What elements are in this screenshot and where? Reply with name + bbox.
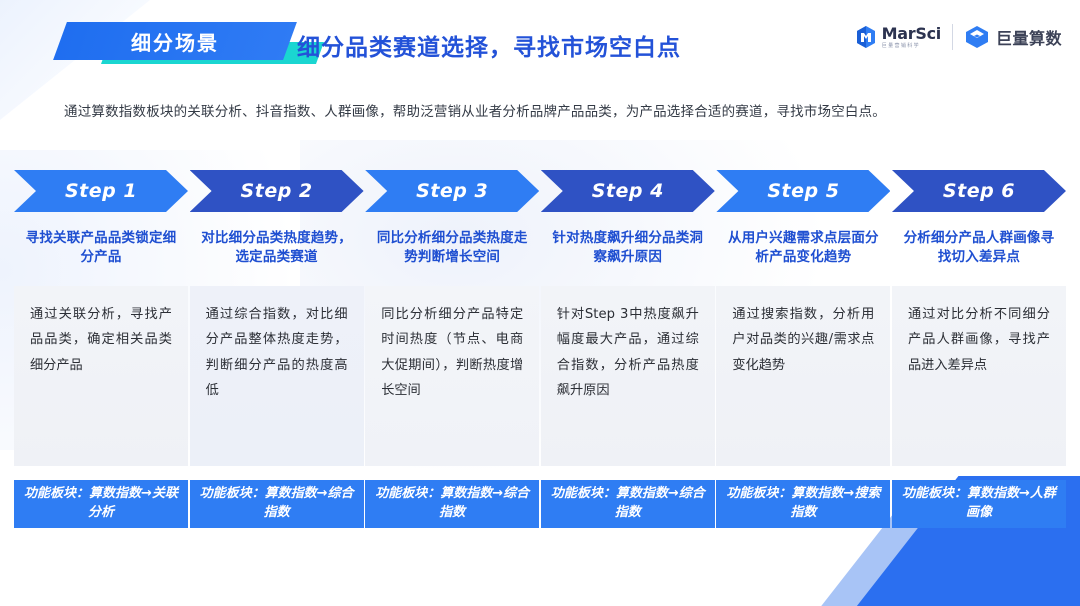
marsci-wordmark: MarSci 巨量营销科学 xyxy=(882,26,941,49)
step-title-1: 寻找关联产品品类锁定细分产品 xyxy=(14,226,188,270)
step-column-6: Step 6 分析细分产品人群画像寻找切入差异点 通过对比分析不同细分产品人群画… xyxy=(892,170,1066,550)
step-function-2[interactable]: 功能板块：算数指数→综合指数 xyxy=(190,480,364,528)
step-column-2: Step 2 对比细分品类热度趋势，选定品类赛道 通过综合指数，对比细分产品整体… xyxy=(190,170,364,550)
step-function-1[interactable]: 功能板块：算数指数→关联分析 xyxy=(14,480,188,528)
step-body-1: 通过关联分析，寻找产品品类，确定相关品类细分产品 xyxy=(14,286,188,466)
step-column-5: Step 5 从用户兴趣需求点层面分析产品变化趋势 通过搜索指数，分析用户对品类… xyxy=(716,170,890,550)
step-body-4: 针对Step 3中热度飙升幅度最大产品，通过综合指数，分析产品热度飙升原因 xyxy=(541,286,715,466)
step-title-6: 分析细分产品人群画像寻找切入差异点 xyxy=(892,226,1066,270)
step-function-5[interactable]: 功能板块：算数指数→搜索指数 xyxy=(716,480,890,528)
step-title-3: 同比分析细分品类热度走势判断增长空间 xyxy=(365,226,539,270)
step-arrow-1[interactable]: Step 1 xyxy=(14,170,188,212)
step-arrow-3[interactable]: Step 3 xyxy=(365,170,539,212)
step-column-1: Step 1 寻找关联产品品类锁定细分产品 通过关联分析，寻找产品品类，确定相关… xyxy=(14,170,188,550)
step-function-6[interactable]: 功能板块：算数指数→人群画像 xyxy=(892,480,1066,528)
slide-root: 细分场景 细分品类赛道选择，寻找市场空白点 MarSci 巨量营销科学 xyxy=(0,0,1080,606)
juliang-name: 巨量算数 xyxy=(996,25,1062,49)
marsci-mark-icon xyxy=(855,25,877,49)
page-header: 细分场景 细分品类赛道选择，寻找市场空白点 MarSci 巨量营销科学 xyxy=(0,0,1080,80)
step-title-4: 针对热度飙升细分品类洞察飙升原因 xyxy=(541,226,715,270)
step-arrow-6[interactable]: Step 6 xyxy=(892,170,1066,212)
step-title-5: 从用户兴趣需求点层面分析产品变化趋势 xyxy=(716,226,890,270)
step-arrow-5[interactable]: Step 5 xyxy=(716,170,890,212)
step-arrow-4[interactable]: Step 4 xyxy=(541,170,715,212)
step-body-2: 通过综合指数，对比细分产品整体热度走势，判断细分产品的热度高低 xyxy=(190,286,364,466)
step-body-3: 同比分析细分产品特定时间热度（节点、电商大促期间），判断热度增长空间 xyxy=(365,286,539,466)
juliang-mark-icon xyxy=(964,24,990,50)
steps-container: Step 1 寻找关联产品品类锁定细分产品 通过关联分析，寻找产品品类，确定相关… xyxy=(14,170,1066,550)
step-title-2: 对比细分品类热度趋势，选定品类赛道 xyxy=(190,226,364,270)
logo-divider xyxy=(952,24,953,50)
step-function-3[interactable]: 功能板块：算数指数→综合指数 xyxy=(365,480,539,528)
page-title: 细分品类赛道选择，寻找市场空白点 xyxy=(297,28,681,62)
page-description: 通过算数指数板块的关联分析、抖音指数、人群画像，帮助泛营销从业者分析品牌产品品类… xyxy=(64,102,1024,124)
step-body-6: 通过对比分析不同细分产品人群画像，寻找产品进入差异点 xyxy=(892,286,1066,466)
marsci-name: MarSci xyxy=(882,26,941,42)
step-column-3: Step 3 同比分析细分品类热度走势判断增长空间 同比分析细分产品特定时间热度… xyxy=(365,170,539,550)
logo-group: MarSci 巨量营销科学 巨量算数 xyxy=(855,24,1062,50)
step-function-4[interactable]: 功能板块：算数指数→综合指数 xyxy=(541,480,715,528)
juliang-logo: 巨量算数 xyxy=(964,24,1062,50)
step-arrow-2[interactable]: Step 2 xyxy=(190,170,364,212)
step-column-4: Step 4 针对热度飙升细分品类洞察飙升原因 针对Step 3中热度飙升幅度最… xyxy=(541,170,715,550)
marsci-subtitle: 巨量营销科学 xyxy=(882,44,941,49)
header-tag-label: 细分场景 xyxy=(60,22,290,60)
step-body-5: 通过搜索指数，分析用户对品类的兴趣/需求点变化趋势 xyxy=(716,286,890,466)
marsci-logo: MarSci 巨量营销科学 xyxy=(855,25,941,49)
